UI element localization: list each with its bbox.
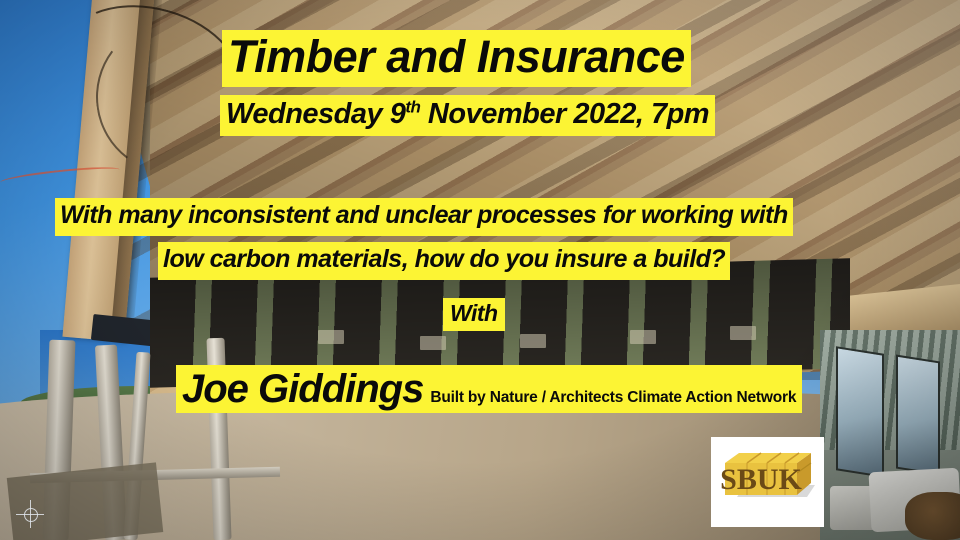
- date-ordinal-suffix: th: [405, 97, 420, 116]
- page-title: Timber and Insurance: [222, 30, 691, 87]
- speaker-banner: Joe Giddings Built by Nature / Architect…: [176, 365, 802, 413]
- sbuk-logo: SBUK: [711, 437, 824, 527]
- event-poster: Timber and Insurance Wednesday 9th Novem…: [0, 0, 960, 540]
- straw-bale-block-icon: SBUK: [711, 437, 824, 527]
- with-label: With: [443, 298, 505, 331]
- registration-crosshair-icon: [16, 500, 44, 528]
- event-date-prefix: Wednesday 9: [226, 98, 405, 130]
- subtitle-line-1: With many inconsistent and unclear proce…: [55, 198, 793, 236]
- event-date-suffix: November 2022, 7pm: [420, 98, 709, 130]
- membrane-label-d: [630, 330, 656, 344]
- window-left: [836, 346, 884, 478]
- event-datetime: Wednesday 9th November 2022, 7pm: [220, 95, 715, 136]
- membrane-label-b: [420, 336, 446, 350]
- membrane-label-c: [520, 334, 546, 348]
- speaker-organisation: Built by Nature / Architects Climate Act…: [430, 390, 796, 406]
- membrane-label-a: [318, 330, 344, 344]
- subtitle-line-2: low carbon materials, how do you insure …: [158, 242, 730, 280]
- membrane-label-e: [730, 326, 756, 340]
- window-right: [896, 355, 940, 476]
- sbuk-logo-text: SBUK: [720, 463, 802, 496]
- soil-pile: [905, 492, 960, 540]
- speaker-name: Joe Giddings: [182, 365, 423, 409]
